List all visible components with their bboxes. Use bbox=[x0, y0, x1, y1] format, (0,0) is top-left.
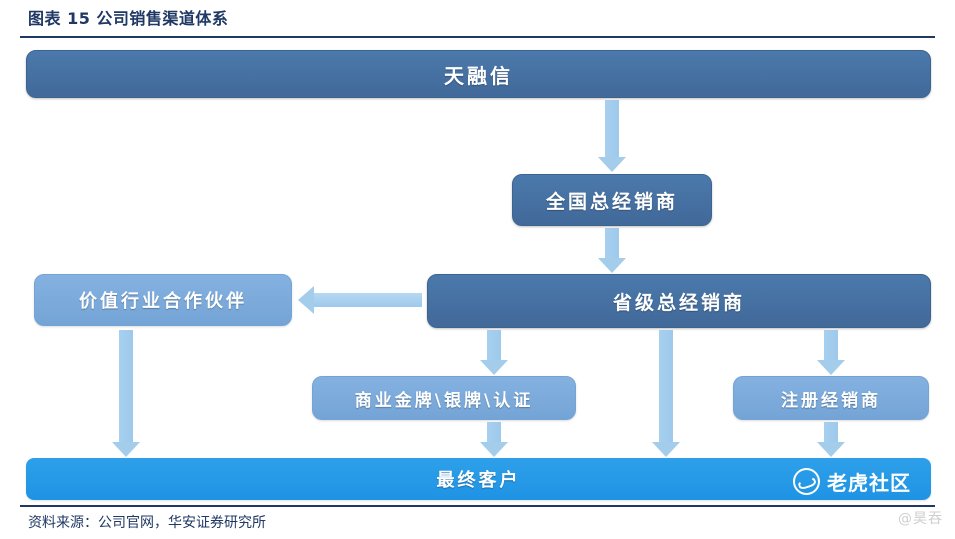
arrow-provincial-to-registered bbox=[815, 330, 847, 375]
arrow-tianrongxin-to-national bbox=[596, 100, 628, 172]
node-tianrongxin: 天融信 bbox=[26, 50, 931, 98]
tiger-community-watermark: 老虎社区 bbox=[793, 467, 911, 496]
source-note: 资料来源：公司官网，华安证券研究所 bbox=[28, 512, 266, 532]
user-handle-watermark: @昊吞 bbox=[898, 508, 943, 528]
diagram-canvas: 天融信 全国总经销商 省级总经销商 价值行业合作伙伴 商业金牌\银牌\认证 注册… bbox=[0, 38, 955, 504]
arrow-national-to-provincial bbox=[596, 228, 628, 273]
arrow-partner-to-end-customer bbox=[110, 330, 142, 457]
node-gold-silver-certification: 商业金牌\银牌\认证 bbox=[312, 376, 576, 420]
page-title: 图表 15 公司销售渠道体系 bbox=[28, 5, 228, 29]
tiger-circle-icon bbox=[793, 468, 820, 495]
arrow-provincial-to-gold-silver bbox=[478, 330, 510, 375]
node-value-industry-partner: 价值行业合作伙伴 bbox=[34, 274, 292, 326]
node-provincial-distributor: 省级总经销商 bbox=[427, 274, 931, 328]
arrow-provincial-to-partner bbox=[298, 286, 422, 314]
node-national-distributor: 全国总经销商 bbox=[512, 174, 712, 226]
tiger-community-label: 老虎社区 bbox=[827, 467, 911, 496]
arrow-provincial-to-end-customer bbox=[650, 330, 682, 457]
arrow-registered-to-end-customer bbox=[815, 422, 847, 457]
arrow-gold-silver-to-end-customer bbox=[478, 422, 510, 457]
source-divider-bottom bbox=[20, 505, 935, 507]
node-registered-distributor: 注册经销商 bbox=[733, 376, 929, 420]
